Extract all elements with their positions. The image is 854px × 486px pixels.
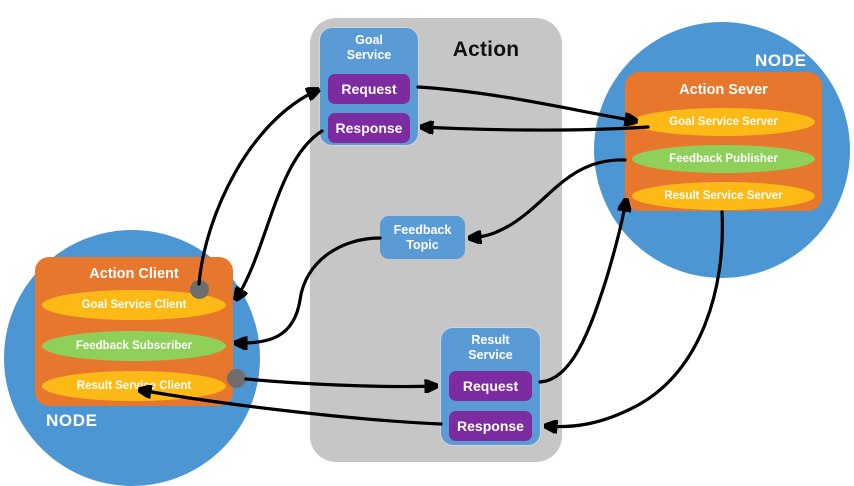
result-service-title-line1: Result (471, 333, 509, 347)
action-panel-title: Action (432, 38, 540, 62)
goal-service-box: Goal Service Request Response (320, 28, 418, 145)
result-service-response: Response (449, 411, 532, 441)
feedback-topic-line1: Feedback (394, 223, 452, 237)
arrow-client-to-goal-request (199, 90, 318, 284)
pill-feedback-subscriber: Feedback Subscriber (42, 331, 226, 361)
node-label-client: NODE (46, 411, 98, 431)
action-server-title: Action Sever (625, 82, 822, 98)
result-service-title: Result Service (441, 333, 540, 363)
goal-service-request: Request (328, 74, 410, 104)
action-server-box: Action Sever Goal Service Server Feedbac… (625, 72, 822, 211)
node-label-server: NODE (755, 51, 807, 71)
result-service-request: Request (449, 371, 532, 401)
feedback-topic-line2: Topic (406, 238, 438, 252)
goal-service-title: Goal Service (320, 33, 418, 63)
goal-service-response: Response (328, 113, 410, 143)
goal-service-title-line2: Service (347, 48, 391, 62)
goal-service-client-port-dot (190, 280, 209, 299)
goal-service-title-line1: Goal (355, 33, 383, 47)
result-service-box: Result Service Request Response (441, 328, 540, 445)
pill-result-service-client: Result Service Client (42, 371, 226, 401)
feedback-topic-text: Feedback Topic (394, 223, 452, 253)
result-service-client-port-dot (227, 369, 246, 388)
diagram-canvas: Action NODE NODE Action Client Goal Serv… (0, 0, 854, 480)
pill-goal-service-server: Goal Service Server (632, 108, 815, 136)
action-client-title: Action Client (35, 266, 233, 282)
result-service-title-line2: Service (468, 348, 512, 362)
feedback-topic-box: Feedback Topic (380, 216, 465, 259)
pill-result-service-server: Result Service Server (632, 182, 815, 210)
action-client-box: Action Client Goal Service Client Feedba… (35, 257, 233, 406)
pill-feedback-publisher: Feedback Publisher (632, 145, 815, 173)
